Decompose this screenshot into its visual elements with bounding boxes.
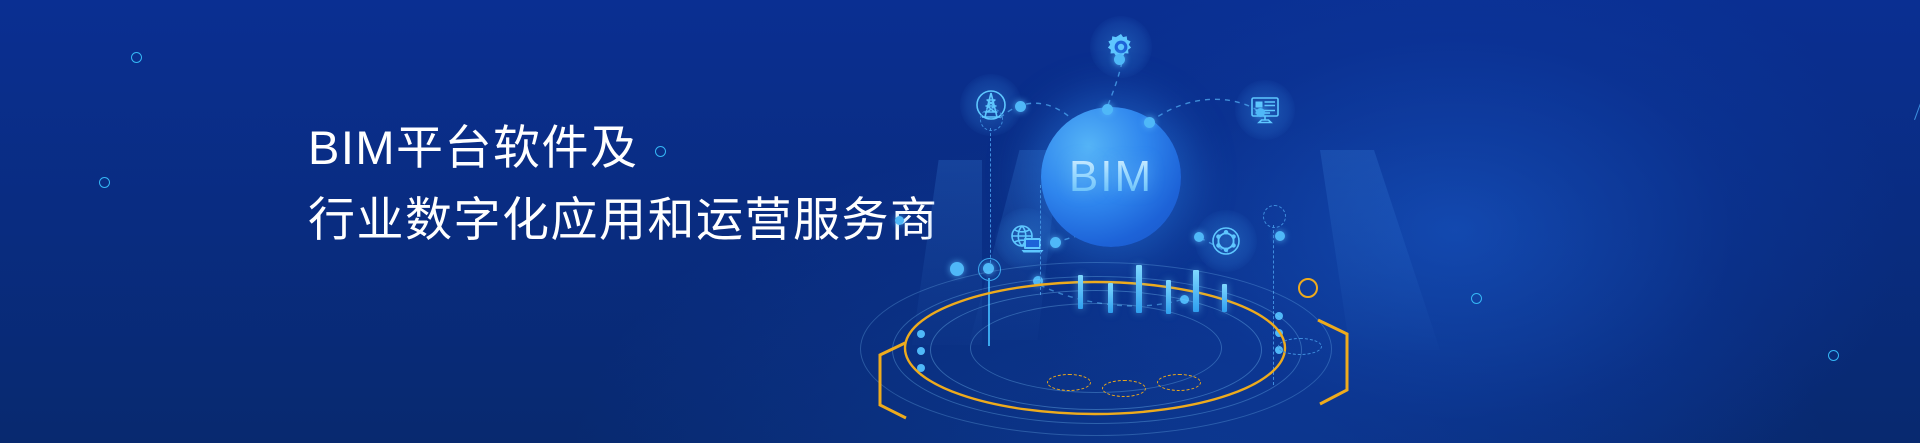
bim-label: BIM xyxy=(1041,152,1181,202)
yellow-dashed-pod xyxy=(1278,338,1322,355)
dashed-stem xyxy=(990,128,991,273)
gear-icon xyxy=(1090,16,1152,78)
chart-bar xyxy=(1136,265,1142,313)
connector-node xyxy=(1194,232,1204,242)
hero-banner: BIM平台软件及 行业数字化应用和运营服务商 BIM xyxy=(0,0,1920,443)
decor-circle xyxy=(131,52,142,63)
connector-node xyxy=(895,216,904,225)
headline-block: BIM平台软件及 行业数字化应用和运营服务商 xyxy=(308,112,939,256)
connector-node xyxy=(1114,54,1125,65)
headline-line-1: BIM平台软件及 xyxy=(308,112,939,184)
stem-cap-circle xyxy=(1263,205,1286,228)
yellow-dashed-pod xyxy=(1102,380,1146,397)
light-beam xyxy=(1320,150,1440,350)
bim-sphere: BIM xyxy=(1041,107,1181,247)
connector-node xyxy=(1050,237,1061,248)
chart-bar xyxy=(1166,280,1171,314)
connector-node xyxy=(1256,108,1265,117)
headline-line-2: 行业数字化应用和运营服务商 xyxy=(308,184,939,256)
stem-cap-circle xyxy=(980,108,1003,131)
chart-bar xyxy=(1078,275,1083,309)
connector-node xyxy=(1275,231,1285,241)
network-node-icon xyxy=(1195,210,1257,272)
connector-node xyxy=(1144,117,1155,128)
connector-node xyxy=(1102,104,1113,115)
connector-node xyxy=(950,262,964,276)
chart-bar xyxy=(1108,283,1113,313)
monitor-icon xyxy=(1235,80,1295,140)
bim-illustration: BIM xyxy=(850,0,1920,443)
globe-laptop-icon xyxy=(995,208,1057,270)
decor-circle xyxy=(99,177,110,188)
yellow-circle-marker xyxy=(1298,278,1318,298)
yellow-dashed-pod xyxy=(1047,374,1091,391)
yellow-dashed-pod xyxy=(1157,374,1201,391)
connector-node xyxy=(1015,101,1026,112)
chart-bar xyxy=(1222,284,1227,312)
chart-bar xyxy=(1193,270,1199,312)
